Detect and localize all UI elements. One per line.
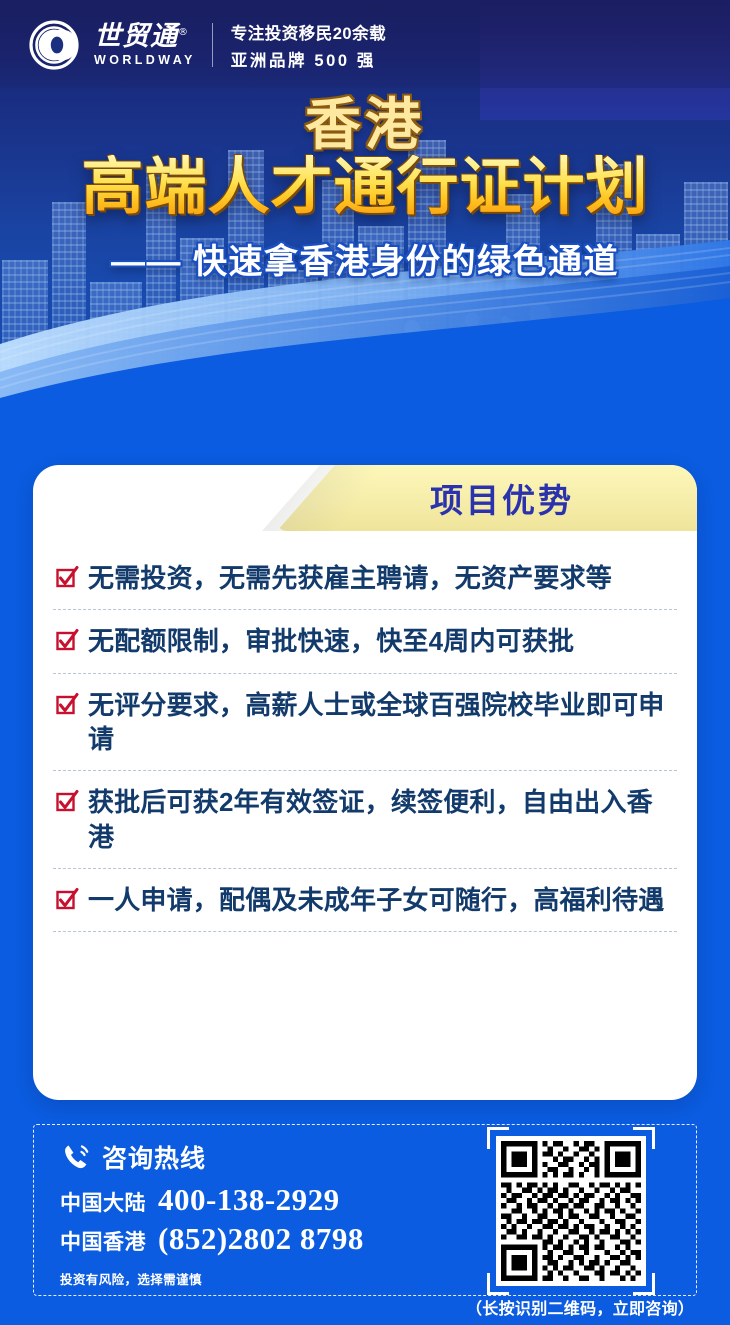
qr-corner-top-left bbox=[487, 1127, 509, 1149]
list-item: 无评分要求，高薪人士或全球百强院校毕业即可申请 bbox=[53, 674, 677, 772]
list-item: 无配额限制，审批快速，快至4周内可获批 bbox=[53, 610, 677, 673]
qr-section: （长按识别二维码，立即咨询） bbox=[466, 1136, 676, 1319]
contact-info: 咨询热线 中国大陆 400-138-2929 中国香港 (852)2802 87… bbox=[60, 1139, 440, 1288]
advantages-card: 项目优势 无需投资，无需先获雇主聘请，无资产要求等 bbox=[33, 465, 697, 1100]
disclaimer-text: 投资有风险，选择需谨慎 bbox=[60, 1269, 440, 1288]
checked-box-icon bbox=[55, 692, 79, 716]
hotline-label: 咨询热线 bbox=[102, 1139, 206, 1175]
list-item-text: 无需投资，无需先获雇主聘请，无资产要求等 bbox=[88, 561, 612, 595]
logo-cn-name: 世贸通 bbox=[94, 21, 178, 52]
list-item-text: 一人申请，配偶及未成年子女可随行，高福利待遇 bbox=[88, 883, 664, 917]
contact-row-mainland: 中国大陆 400-138-2929 bbox=[60, 1182, 440, 1218]
worldway-circle-logo-icon bbox=[28, 19, 80, 71]
poster-root: 世贸通® WORLDWAY 专注投资移民20余载 亚洲品牌 500 强 香港 高… bbox=[0, 0, 730, 1325]
hotline-row: 咨询热线 bbox=[60, 1139, 440, 1175]
list-item: 获批后可获2年有效签证，续签便利，自由出入香港 bbox=[53, 771, 677, 869]
qr-caption: （长按识别二维码，立即咨询） bbox=[466, 1295, 676, 1319]
advantages-ribbon-title: 项目优势 bbox=[400, 474, 574, 522]
brand-bar: 世贸通® WORLDWAY 专注投资移民20余载 亚洲品牌 500 强 bbox=[28, 14, 386, 76]
hero-banner: 世贸通® WORLDWAY 专注投资移民20余载 亚洲品牌 500 强 香港 高… bbox=[0, 0, 730, 470]
checked-box-icon bbox=[55, 789, 79, 813]
contact-number[interactable]: (852)2802 8798 bbox=[158, 1221, 364, 1257]
checked-box-icon bbox=[55, 887, 79, 911]
logo-wordmark: 世贸通® WORLDWAY bbox=[94, 23, 196, 67]
logo-en-name: WORLDWAY bbox=[94, 54, 196, 67]
qr-corner-bottom-left bbox=[487, 1273, 509, 1295]
qr-code-wrapper[interactable] bbox=[496, 1136, 646, 1286]
checked-box-icon bbox=[55, 628, 79, 652]
advantages-ribbon: 项目优势 bbox=[277, 465, 697, 531]
contact-footer: 咨询热线 中国大陆 400-138-2929 中国香港 (852)2802 87… bbox=[33, 1124, 697, 1296]
contact-number[interactable]: 400-138-2929 bbox=[158, 1182, 340, 1218]
contact-row-hongkong: 中国香港 (852)2802 8798 bbox=[60, 1221, 440, 1257]
checked-box-icon bbox=[55, 565, 79, 589]
qr-corner-bottom-right bbox=[633, 1273, 655, 1295]
registered-mark: ® bbox=[178, 27, 189, 38]
list-item: 无需投资，无需先获雇主聘请，无资产要求等 bbox=[53, 547, 677, 610]
contact-region: 中国大陆 bbox=[60, 1187, 146, 1217]
contact-region: 中国香港 bbox=[60, 1226, 146, 1256]
hero-title-line-2: 高端人才通行证计划 bbox=[0, 155, 730, 220]
hero-title-line-1: 香港 bbox=[0, 96, 730, 153]
brand-divider bbox=[212, 23, 213, 67]
list-item: 一人申请，配偶及未成年子女可随行，高福利待遇 bbox=[53, 869, 677, 932]
tagline-line-1: 专注投资移民20余载 bbox=[231, 20, 386, 44]
hero-subtitle: —— 快速拿香港身份的绿色通道 bbox=[0, 234, 730, 283]
qr-corner-top-right bbox=[633, 1127, 655, 1149]
phone-call-icon bbox=[60, 1141, 92, 1173]
qr-code[interactable] bbox=[496, 1136, 646, 1286]
tagline-line-2: 亚洲品牌 500 强 bbox=[231, 47, 386, 71]
brand-tagline: 专注投资移民20余载 亚洲品牌 500 强 bbox=[231, 20, 386, 71]
list-item-text: 无评分要求，高薪人士或全球百强院校毕业即可申请 bbox=[88, 688, 675, 757]
list-item-text: 无配额限制，审批快速，快至4周内可获批 bbox=[88, 624, 574, 658]
hero-title-block: 香港 高端人才通行证计划 —— 快速拿香港身份的绿色通道 bbox=[0, 96, 730, 283]
list-item-text: 获批后可获2年有效签证，续签便利，自由出入香港 bbox=[88, 785, 675, 854]
advantages-list: 无需投资，无需先获雇主聘请，无资产要求等 无配额限制，审批快速，快至4周内可获批 bbox=[33, 531, 697, 942]
